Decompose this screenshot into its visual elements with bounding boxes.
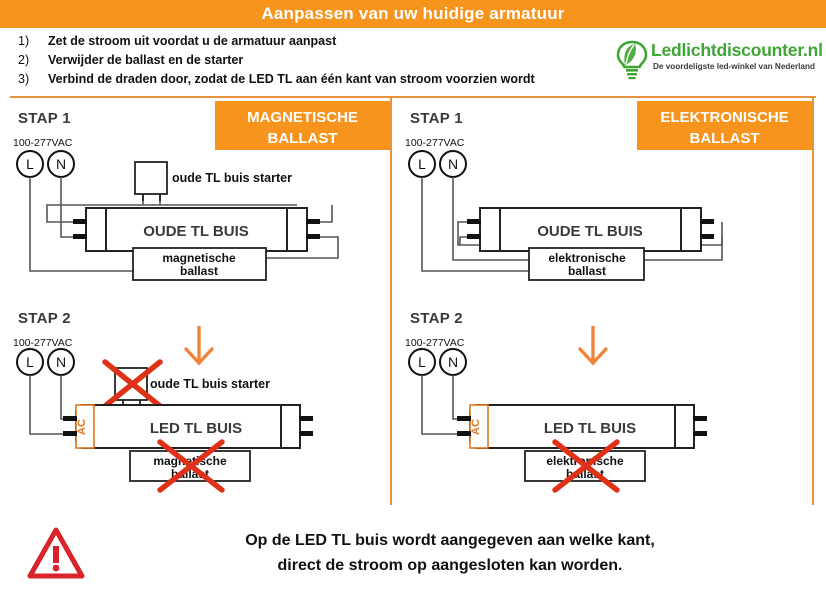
terminal-n-label: N (56, 354, 66, 370)
intro-step-text: Zet de stroom uit voordat u de armatuur … (48, 34, 336, 48)
ballast-label-line1: magnetische (162, 251, 236, 265)
schematic-magnetic-step2: oude TL buis starter AC LED TL BUIS (0, 300, 392, 505)
ac-marker-label: AC (76, 419, 88, 435)
terminal-l-label: L (418, 156, 426, 172)
infographic-page: Aanpassen van uw huidige armatuur 1) Zet… (0, 0, 826, 598)
ac-marker-label: AC (470, 419, 482, 435)
panel-magnetic-step2: STAP 2 100-277VAC oude TL buis starter (0, 300, 392, 505)
list-item: 1) Zet de stroom uit voordat u de armatu… (18, 34, 618, 48)
divider-vertical-right (812, 98, 814, 505)
starter-label: oude TL buis starter (150, 377, 270, 391)
warning-triangle-icon (28, 527, 84, 579)
warning-line-1: Op de LED TL buis wordt aangegeven aan w… (110, 528, 790, 553)
terminal-n-label: N (56, 156, 66, 172)
divider-top (10, 96, 816, 98)
intro-step-number: 2) (18, 53, 48, 67)
terminal-l-label: L (418, 354, 426, 370)
list-item: 2) Verwijder de ballast en de starter (18, 53, 618, 67)
page-title: Aanpassen van uw huidige armatuur (0, 0, 826, 28)
intro-step-text: Verwijder de ballast en de starter (48, 53, 243, 67)
ballast-label-line1: elektronische (548, 251, 626, 265)
intro-steps-list: 1) Zet de stroom uit voordat u de armatu… (18, 34, 618, 91)
intro-step-number: 1) (18, 34, 48, 48)
schematic-magnetic-step1: oude TL buis starter OUDE TL BUIS magnet… (0, 100, 392, 300)
intro-step-text: Verbind de draden door, zodat de LED TL … (48, 72, 535, 86)
warning-line-2: direct de stroom op aangesloten kan word… (110, 553, 790, 578)
starter-label: oude TL buis starter (172, 171, 292, 185)
panel-magnetic-step1: STAP 1 100-277VAC (0, 100, 392, 300)
starter-component (135, 162, 167, 201)
terminal-l-label: L (26, 156, 34, 172)
down-arrow-icon (186, 326, 212, 363)
tube-label: OUDE TL BUIS (537, 223, 643, 240)
warning-section: Op de LED TL buis wordt aangegeven aan w… (0, 512, 826, 598)
ballast-label-line2: ballast (568, 264, 606, 278)
page-title-bar: Aanpassen van uw huidige armatuur (0, 0, 826, 28)
panel-electronic-step2: STAP 2 100-277VAC AC (392, 300, 812, 505)
panel-electronic-step1: STAP 1 100-277VAC (392, 100, 812, 300)
tube-label: LED TL BUIS (150, 420, 242, 437)
logo-tagline: De voordeligste led-winkel van Nederland (653, 62, 815, 71)
terminal-n-label: N (448, 354, 458, 370)
ballast-label-line2: ballast (180, 264, 218, 278)
tube-label: LED TL BUIS (544, 420, 636, 437)
terminal-l-label: L (26, 354, 34, 370)
list-item: 3) Verbind de draden door, zodat de LED … (18, 72, 618, 86)
green-bulb-leaf-icon (615, 40, 649, 80)
down-arrow-icon (580, 326, 606, 363)
terminal-n-label: N (448, 156, 458, 172)
warning-text: Op de LED TL buis wordt aangegeven aan w… (110, 528, 790, 578)
schematic-electronic-step2: AC LED TL BUIS elektronische ballast L N (392, 300, 812, 505)
intro-step-number: 3) (18, 72, 48, 86)
logo-wordmark: Ledlichtdiscounter.nl (651, 40, 823, 61)
tube-label: OUDE TL BUIS (143, 223, 249, 240)
schematic-electronic-step1: OUDE TL BUIS elektronische ballast L N (392, 100, 812, 300)
brand-logo[interactable]: Ledlichtdiscounter.nl De voordeligste le… (615, 38, 815, 86)
